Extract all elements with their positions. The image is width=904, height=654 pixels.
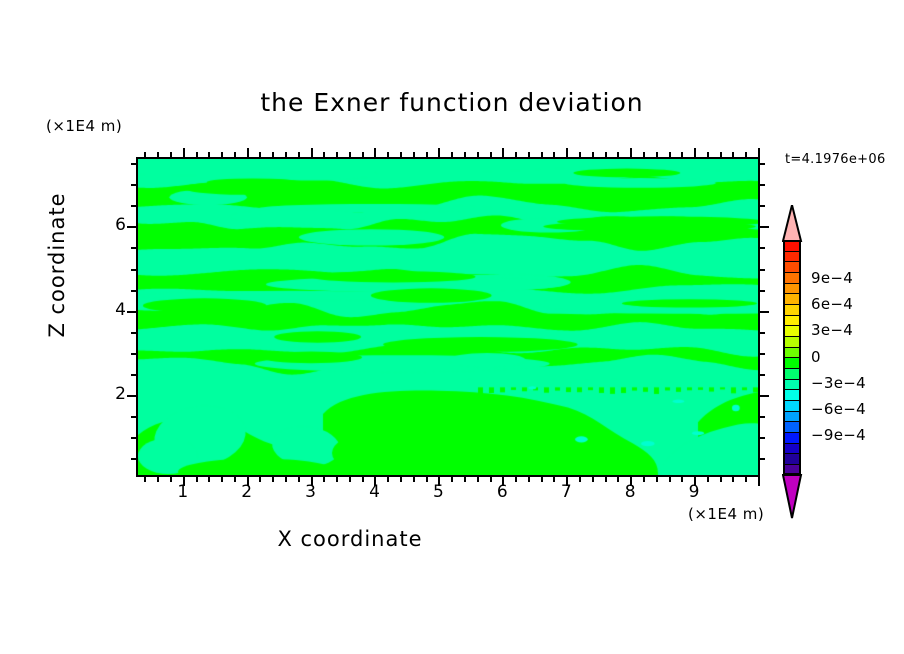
axis-tick xyxy=(502,148,504,157)
axis-tick xyxy=(630,148,632,157)
axis-tick xyxy=(760,374,765,376)
colorbar-over-arrow-icon xyxy=(783,205,801,240)
colorbar-band-stack xyxy=(783,240,801,475)
colorbar-band xyxy=(783,304,801,315)
x-tick-label: 4 xyxy=(359,482,389,502)
axis-tick xyxy=(694,148,696,157)
contour-plot-area xyxy=(136,157,760,477)
axis-tick xyxy=(669,477,671,482)
axis-tick xyxy=(247,148,249,157)
x-axis-title: X coordinate xyxy=(0,527,700,551)
colorbar-band xyxy=(783,240,801,251)
axis-tick xyxy=(760,458,765,460)
x-tick-label: 8 xyxy=(615,482,645,502)
x-tick-label: 2 xyxy=(232,482,262,502)
colorbar-band xyxy=(783,379,801,390)
y-axis-title: Z coordinate xyxy=(45,165,69,365)
axis-tick xyxy=(541,477,543,482)
colorbar-band xyxy=(783,453,801,464)
x-tick-label: 9 xyxy=(679,482,709,502)
axis-tick xyxy=(208,477,210,482)
colorbar-band xyxy=(783,272,801,283)
colorbar-band xyxy=(783,293,801,304)
axis-tick xyxy=(183,148,185,157)
y-tick-label: 4 xyxy=(92,300,126,320)
colorbar-band xyxy=(783,336,801,347)
axis-tick xyxy=(760,205,765,207)
colorbar-tick-label: −9e−4 xyxy=(811,426,866,444)
axis-tick xyxy=(413,477,415,482)
axis-tick xyxy=(311,148,313,157)
axis-tick xyxy=(760,163,765,165)
contour-field-canvas xyxy=(138,159,758,475)
axis-tick xyxy=(592,477,594,482)
axis-tick xyxy=(760,311,769,313)
axis-tick xyxy=(221,477,223,482)
page-title: the Exner function deviation xyxy=(0,88,904,117)
axis-tick xyxy=(438,148,440,157)
axis-tick xyxy=(656,477,658,482)
axis-tick xyxy=(157,477,159,482)
axis-tick xyxy=(464,477,466,482)
axis-tick xyxy=(477,477,479,482)
x-tick-label: 3 xyxy=(296,482,326,502)
axis-tick xyxy=(760,416,765,418)
colorbar-tick-label: −6e−4 xyxy=(811,400,866,418)
colorbar: 9e−46e−43e−40−3e−4−6e−4−9e−4 xyxy=(783,205,903,515)
colorbar-band xyxy=(783,421,801,432)
axis-tick xyxy=(732,477,734,482)
axis-tick xyxy=(374,148,376,157)
colorbar-band xyxy=(783,464,801,475)
colorbar-tick-label: 9e−4 xyxy=(811,269,853,287)
axis-tick xyxy=(760,437,765,439)
colorbar-band xyxy=(783,432,801,443)
axis-tick xyxy=(285,477,287,482)
axis-tick xyxy=(528,477,530,482)
axis-tick xyxy=(605,477,607,482)
axis-tick xyxy=(760,184,765,186)
x-tick-label: 5 xyxy=(423,482,453,502)
axis-tick xyxy=(400,477,402,482)
axis-tick xyxy=(758,477,760,486)
colorbar-tick-label: −3e−4 xyxy=(811,374,866,392)
axis-tick xyxy=(760,395,769,397)
y-tick-label: 2 xyxy=(92,384,126,404)
y-axis-unit-label: (×1E4 m) xyxy=(46,117,122,135)
axis-tick xyxy=(720,477,722,482)
axis-tick xyxy=(760,247,765,249)
colorbar-band xyxy=(783,261,801,272)
colorbar-under-arrow-icon xyxy=(783,475,801,517)
colorbar-tick-label: 3e−4 xyxy=(811,321,853,339)
colorbar-band xyxy=(783,251,801,262)
x-tick-label: 1 xyxy=(168,482,198,502)
axis-tick xyxy=(760,269,765,271)
colorbar-band xyxy=(783,347,801,358)
axis-tick xyxy=(760,353,765,355)
axis-tick xyxy=(760,226,769,228)
colorbar-tick-label: 0 xyxy=(811,348,821,366)
x-tick-label: 6 xyxy=(487,482,517,502)
x-axis-unit-label: (×1E4 m) xyxy=(688,505,764,523)
colorbar-tick-label: 6e−4 xyxy=(811,295,853,313)
axis-tick xyxy=(127,311,136,313)
colorbar-band xyxy=(783,443,801,454)
axis-tick xyxy=(144,477,146,482)
timestamp-annotation: t=4.1976e+06 xyxy=(785,152,886,167)
axis-tick xyxy=(760,290,765,292)
colorbar-band xyxy=(783,283,801,294)
y-tick-label: 6 xyxy=(92,215,126,235)
axis-tick xyxy=(349,477,351,482)
colorbar-band xyxy=(783,357,801,368)
axis-tick xyxy=(566,148,568,157)
colorbar-band xyxy=(783,411,801,422)
y-axis-title-wrap: Z coordinate xyxy=(0,250,160,280)
axis-tick xyxy=(758,148,760,157)
colorbar-band xyxy=(783,389,801,400)
axis-tick xyxy=(336,477,338,482)
axis-tick xyxy=(127,395,136,397)
colorbar-band xyxy=(783,315,801,326)
axis-tick xyxy=(745,477,747,482)
x-tick-label: 7 xyxy=(551,482,581,502)
axis-tick xyxy=(127,226,136,228)
colorbar-band xyxy=(783,400,801,411)
colorbar-band xyxy=(783,325,801,336)
axis-tick xyxy=(272,477,274,482)
axis-tick xyxy=(760,332,765,334)
colorbar-band xyxy=(783,368,801,379)
